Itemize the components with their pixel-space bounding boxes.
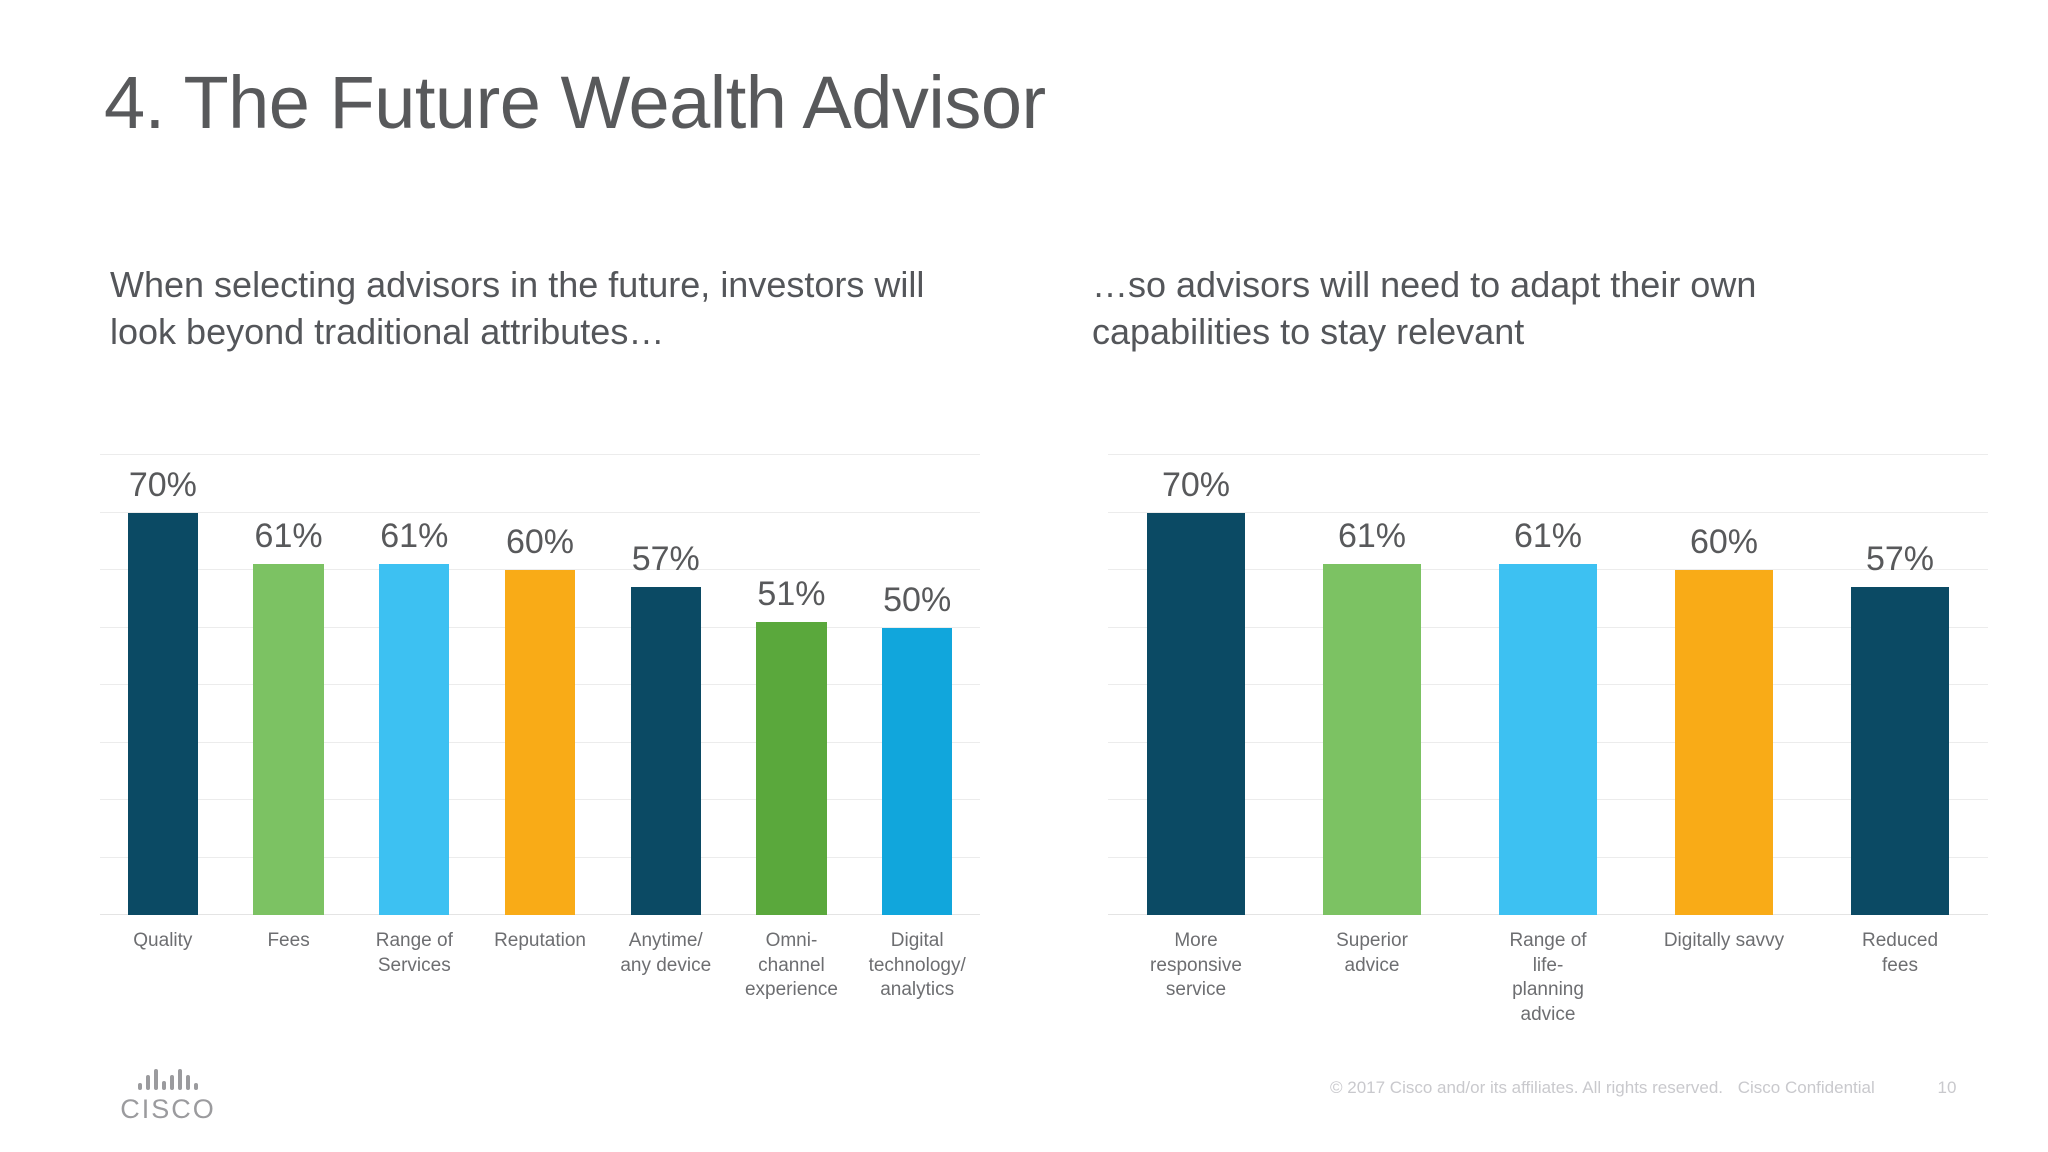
chart-advisor-capabilities: 70%61%61%60%57% More responsive serviceS… xyxy=(1108,455,1988,1028)
bar-value-label: 57% xyxy=(631,540,701,579)
bars-left: 70%61%61%60%57%51%50% xyxy=(100,455,980,915)
chart-investor-selection-criteria: 70%61%61%60%57%51%50% QualityFeesRange o… xyxy=(100,455,980,1003)
bar-slot[interactable]: 61% xyxy=(1284,455,1460,915)
page-number: 10 xyxy=(1938,1078,1957,1097)
footer-note: © 2017 Cisco and/or its affiliates. All … xyxy=(1330,1078,1966,1098)
bars-right: 70%61%61%60%57% xyxy=(1108,455,1988,915)
category-label: Superior advice xyxy=(1284,929,1460,1028)
bar-slot[interactable]: 60% xyxy=(477,455,603,915)
bar[interactable]: 61% xyxy=(1499,564,1598,915)
plot-area-right: 70%61%61%60%57% xyxy=(1108,455,1988,915)
slide: 4. The Future Wealth Advisor When select… xyxy=(0,0,2048,1152)
bar-slot[interactable]: 61% xyxy=(1460,455,1636,915)
bar[interactable]: 61% xyxy=(253,564,323,915)
bar-value-label: 50% xyxy=(882,581,952,620)
bar-value-label: 57% xyxy=(1851,540,1950,579)
bar-value-label: 61% xyxy=(379,517,449,556)
cisco-logo: CISCO xyxy=(108,1068,228,1125)
bar-slot[interactable]: 70% xyxy=(100,455,226,915)
bar-value-label: 60% xyxy=(505,523,575,562)
cisco-wordmark: CISCO xyxy=(108,1094,228,1125)
category-label: Anytime/ any device xyxy=(603,929,729,1003)
category-label: Range of life- planning advice xyxy=(1460,929,1636,1028)
bar[interactable]: 51% xyxy=(756,622,826,915)
plot-area-left: 70%61%61%60%57%51%50% xyxy=(100,455,980,915)
category-label: Digitally savvy xyxy=(1636,929,1812,1028)
category-label: More responsive service xyxy=(1108,929,1284,1028)
bar-slot[interactable]: 57% xyxy=(1812,455,1988,915)
bar[interactable]: 57% xyxy=(631,587,701,915)
bar-slot[interactable]: 51% xyxy=(729,455,855,915)
bar-value-label: 60% xyxy=(1675,523,1774,562)
bar-value-label: 61% xyxy=(253,517,323,556)
cisco-bridge-icon xyxy=(108,1068,228,1090)
bar[interactable]: 50% xyxy=(882,628,952,916)
bar-slot[interactable]: 61% xyxy=(351,455,477,915)
category-label: Digital technology/ analytics xyxy=(854,929,980,1003)
bar[interactable]: 70% xyxy=(1147,513,1246,916)
bar-slot[interactable]: 61% xyxy=(226,455,352,915)
bar-value-label: 61% xyxy=(1323,517,1422,556)
lead-text-left: When selecting advisors in the future, i… xyxy=(110,262,940,356)
bar-value-label: 51% xyxy=(756,575,826,614)
category-label: Reputation xyxy=(477,929,603,1003)
bar-value-label: 70% xyxy=(128,466,198,505)
category-labels-left: QualityFeesRange of ServicesReputationAn… xyxy=(100,929,980,1003)
category-label: Omni- channel experience xyxy=(729,929,855,1003)
bar[interactable]: 61% xyxy=(379,564,449,915)
category-labels-right: More responsive serviceSuperior adviceRa… xyxy=(1108,929,1988,1028)
bar[interactable]: 61% xyxy=(1323,564,1422,915)
bar[interactable]: 57% xyxy=(1851,587,1950,915)
bar-value-label: 70% xyxy=(1147,466,1246,505)
bar[interactable]: 60% xyxy=(505,570,575,915)
bar[interactable]: 70% xyxy=(128,513,198,916)
confidential-text: Cisco Confidential xyxy=(1738,1078,1875,1097)
bar[interactable]: 60% xyxy=(1675,570,1774,915)
category-label: Fees xyxy=(226,929,352,1003)
bar-value-label: 61% xyxy=(1499,517,1598,556)
lead-text-right: …so advisors will need to adapt their ow… xyxy=(1092,262,1922,356)
page-title: 4. The Future Wealth Advisor xyxy=(104,62,1046,143)
copyright-text: © 2017 Cisco and/or its affiliates. All … xyxy=(1330,1078,1723,1097)
category-label: Range of Services xyxy=(351,929,477,1003)
category-label: Reduced fees xyxy=(1812,929,1988,1028)
bar-slot[interactable]: 57% xyxy=(603,455,729,915)
category-label: Quality xyxy=(100,929,226,1003)
bar-slot[interactable]: 50% xyxy=(854,455,980,915)
bar-slot[interactable]: 70% xyxy=(1108,455,1284,915)
bar-slot[interactable]: 60% xyxy=(1636,455,1812,915)
